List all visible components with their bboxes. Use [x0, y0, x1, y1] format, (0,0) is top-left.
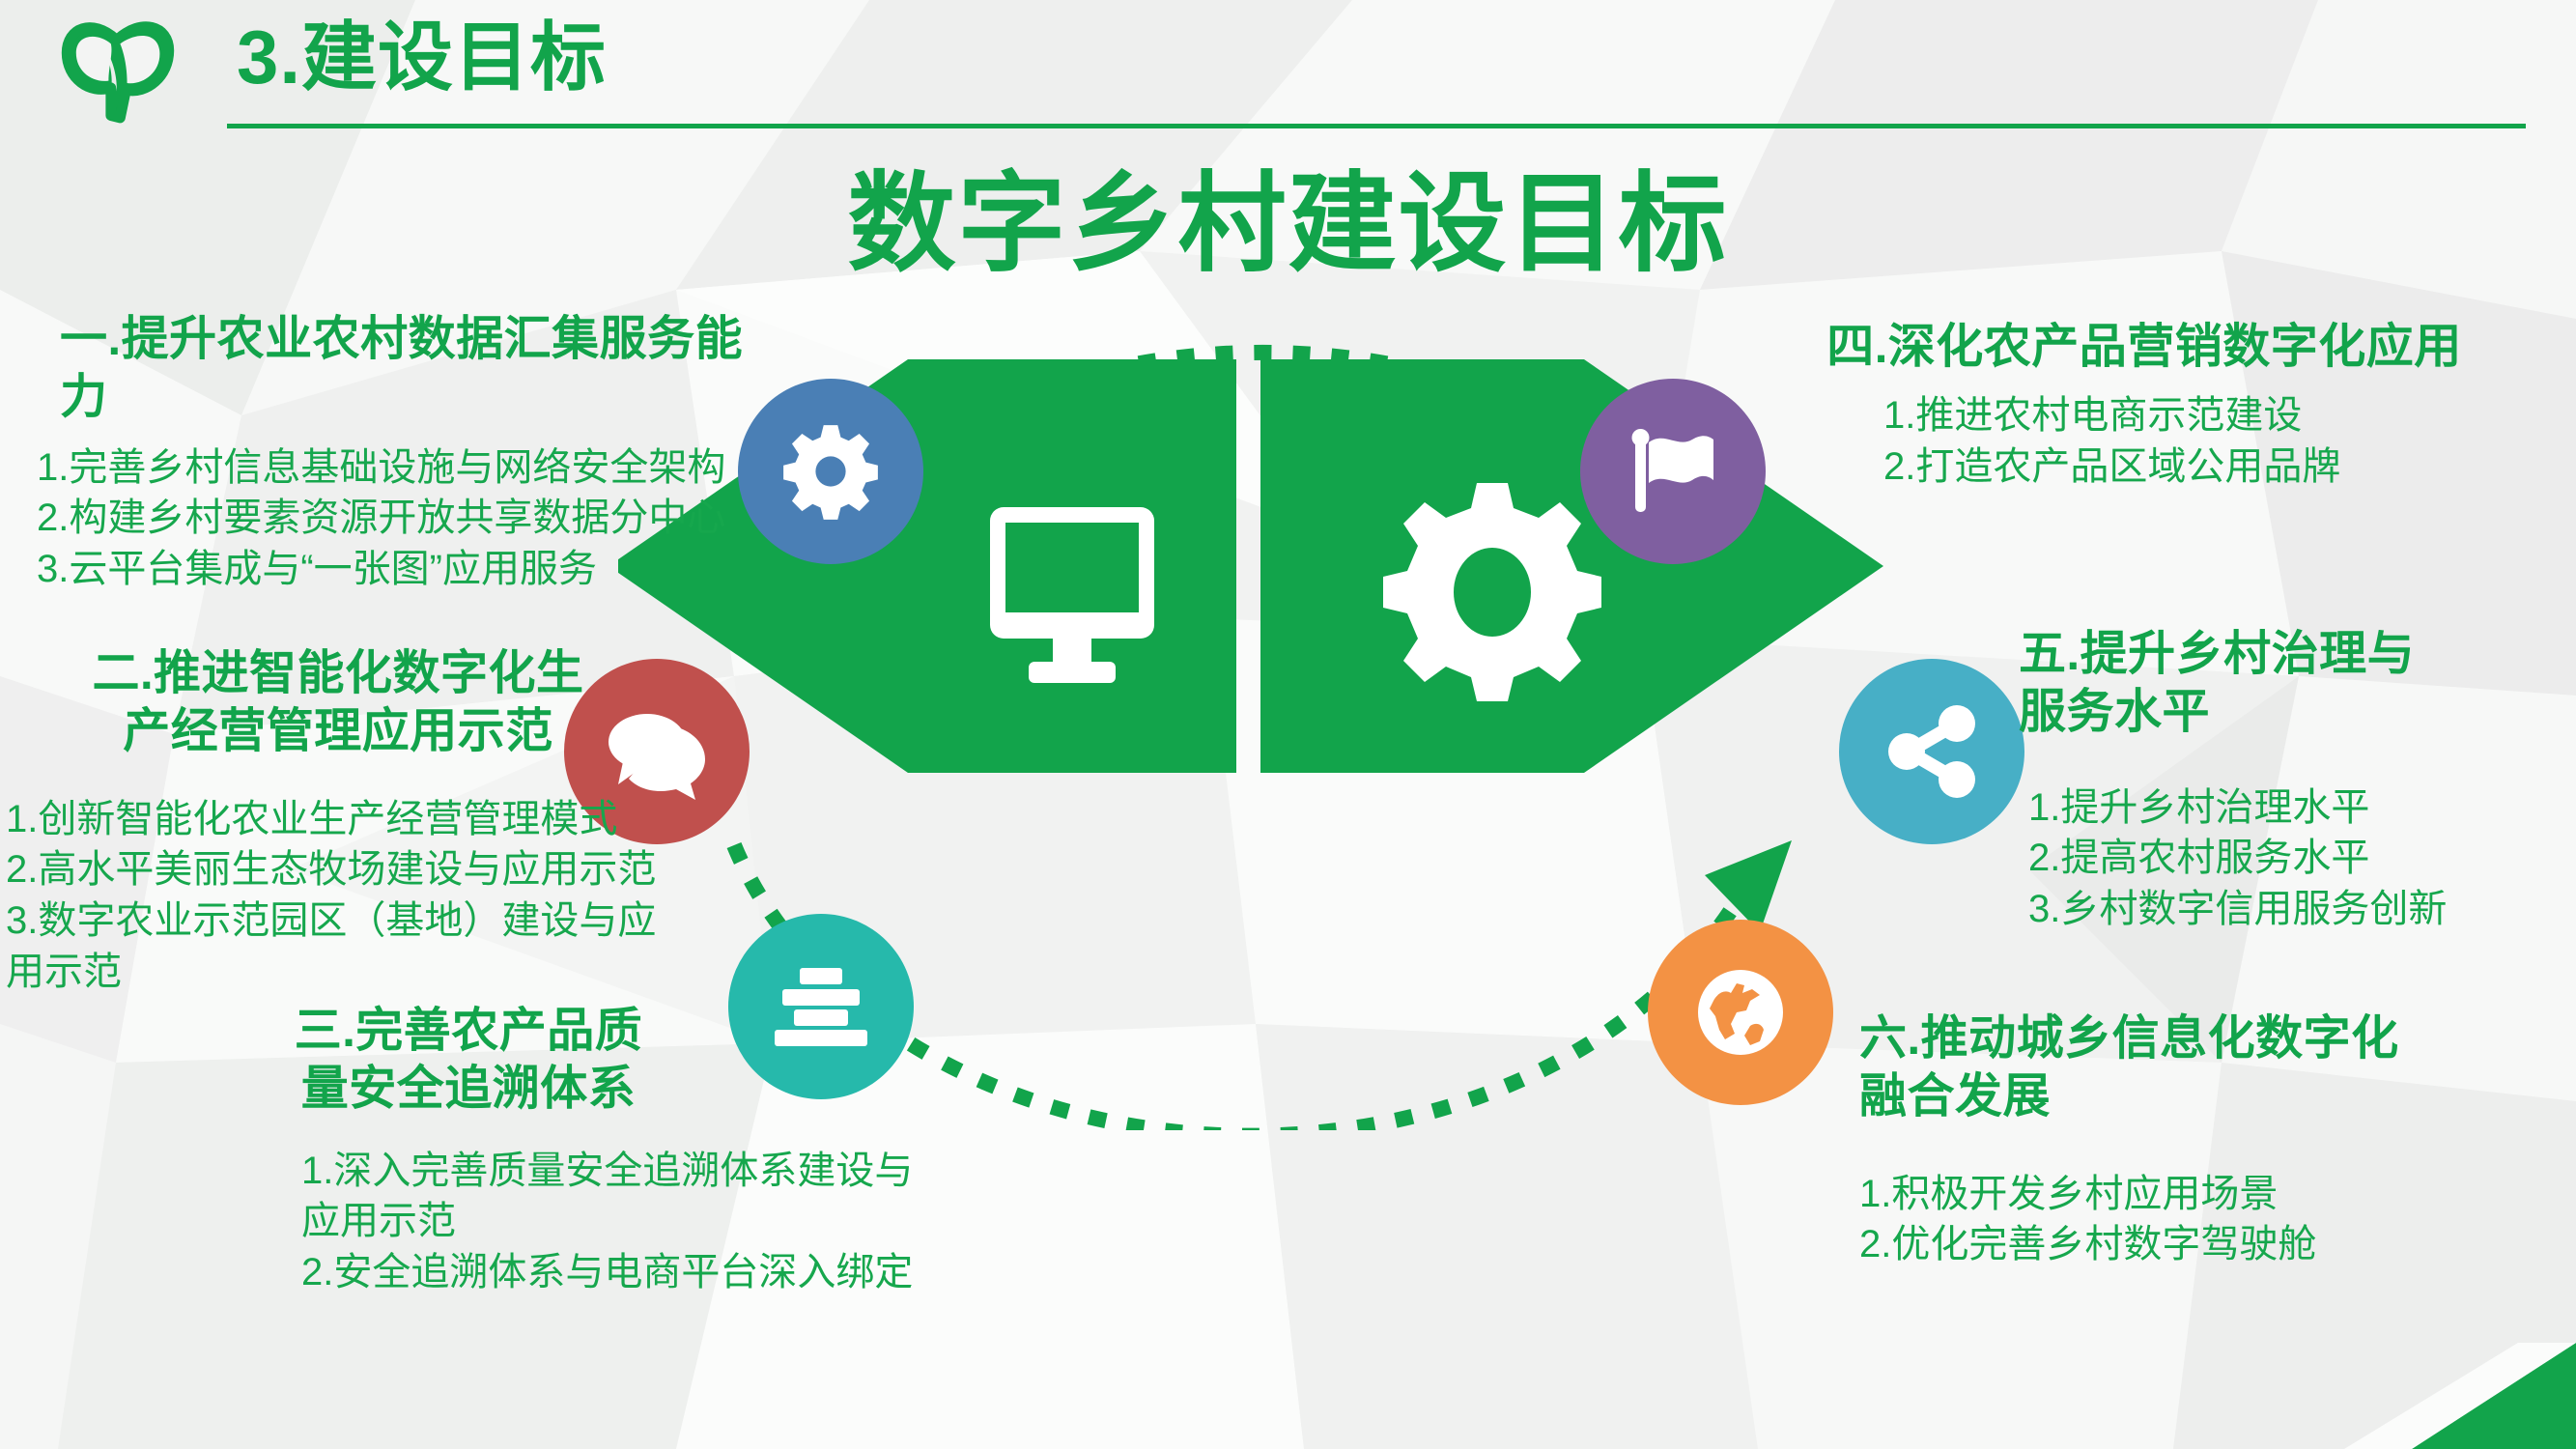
header-divider: [227, 124, 2526, 128]
gear-icon: [780, 421, 881, 522]
list-item: 1.提升乡村治理水平: [2028, 782, 2576, 834]
section-four-title: 四.深化农产品营销数字化应用: [1729, 319, 2569, 377]
list-item: 2.安全追溯体系与电商平台深入绑定: [301, 1247, 918, 1298]
list-item: 2.打造农产品区域公用品牌: [1883, 441, 2569, 493]
section-six-list: 1.积极开发乡村应用场景 2.优化完善乡村数字驾驶舱: [1859, 1169, 2574, 1271]
flag-icon: [1622, 421, 1724, 522]
section-two-list: 1.创新智能化农业生产经营管理模式 2.高水平美丽生态牧场建设与应用示范 3.数…: [0, 794, 676, 998]
main-title: 数字乡村建设目标: [0, 164, 2576, 283]
gear-icon: [1383, 483, 1601, 701]
section-six: 六.推动城乡信息化数字化 融合发展 1.积极开发乡村应用场景 2.优化完善乡村数…: [1859, 1010, 2574, 1270]
section-five-list: 1.提升乡村治理水平 2.提高农村服务水平 3.乡村数字信用服务创新: [2019, 782, 2576, 935]
badge-share-blue[interactable]: [1839, 659, 2024, 844]
list-item: 3.乡村数字信用服务创新: [2028, 884, 2576, 935]
list-item: 3.云平台集成与“一张图”应用服务: [37, 544, 773, 595]
slide-canvas: 3.建设目标 数字乡村建设目标: [0, 0, 2576, 1449]
list-item: 1.创新智能化农业生产经营管理模式: [6, 794, 676, 845]
section-two-title: 二.推进智能化数字化生 产经营管理应用示范: [0, 645, 676, 761]
section-three-title: 三.完善农产品质 量安全追溯体系: [155, 1003, 918, 1119]
globe-icon: [1692, 964, 1789, 1061]
list-item: 1.完善乡村信息基础设施与网络安全架构: [37, 442, 773, 494]
share-icon: [1882, 701, 1982, 802]
section-five-title: 五.提升乡村治理与 服务水平: [2019, 626, 2576, 742]
section-three-list: 1.深入完善质量安全追溯体系建设与 应用示范 2.安全追溯体系与电商平台深入绑定: [155, 1146, 918, 1298]
section-four-list: 1.推进农村电商示范建设 2.打造农产品区域公用品牌: [1729, 390, 2569, 493]
corner-triangle: [2286, 1343, 2576, 1449]
list-item: 2.高水平美丽生态牧场建设与应用示范: [6, 844, 676, 895]
slide-header: 3.建设目标: [0, 0, 2576, 145]
section-three: 三.完善农产品质 量安全追溯体系 1.深入完善质量安全追溯体系建设与 应用示范 …: [155, 1003, 918, 1298]
section-one: 一.提升农业农村数据汇集服务能力 1.完善乡村信息基础设施与网络安全架构 2.构…: [10, 311, 773, 595]
list-item: 2.构建乡村要素资源开放共享数据分中心: [37, 493, 773, 544]
section-six-title: 六.推动城乡信息化数字化 融合发展: [1859, 1010, 2574, 1126]
list-item: 2.优化完善乡村数字驾驶舱: [1859, 1219, 2574, 1270]
section-five: 五.提升乡村治理与 服务水平 1.提升乡村治理水平 2.提高农村服务水平 3.乡…: [2019, 626, 2576, 935]
list-item: 1.积极开发乡村应用场景: [1859, 1169, 2574, 1220]
list-item: 1.推进农村电商示范建设: [1883, 390, 2569, 441]
badge-globe-orange[interactable]: [1648, 920, 1833, 1105]
list-item: 3.数字农业示范园区（基地）建设与应 用示范: [6, 895, 676, 998]
page-title: 3.建设目标: [237, 19, 607, 95]
section-four: 四.深化农产品营销数字化应用 1.推进农村电商示范建设 2.打造农产品区域公用品…: [1729, 319, 2569, 492]
list-item: 2.提高农村服务水平: [2028, 833, 2576, 884]
leaf-icon: [60, 14, 176, 129]
section-one-title: 一.提升农业农村数据汇集服务能力: [10, 311, 773, 427]
section-one-list: 1.完善乡村信息基础设施与网络安全架构 2.构建乡村要素资源开放共享数据分中心 …: [10, 442, 773, 595]
list-item: 1.深入完善质量安全追溯体系建设与 应用示范: [301, 1146, 918, 1248]
section-two: 二.推进智能化数字化生 产经营管理应用示范 1.创新智能化农业生产经营管理模式 …: [0, 645, 676, 998]
